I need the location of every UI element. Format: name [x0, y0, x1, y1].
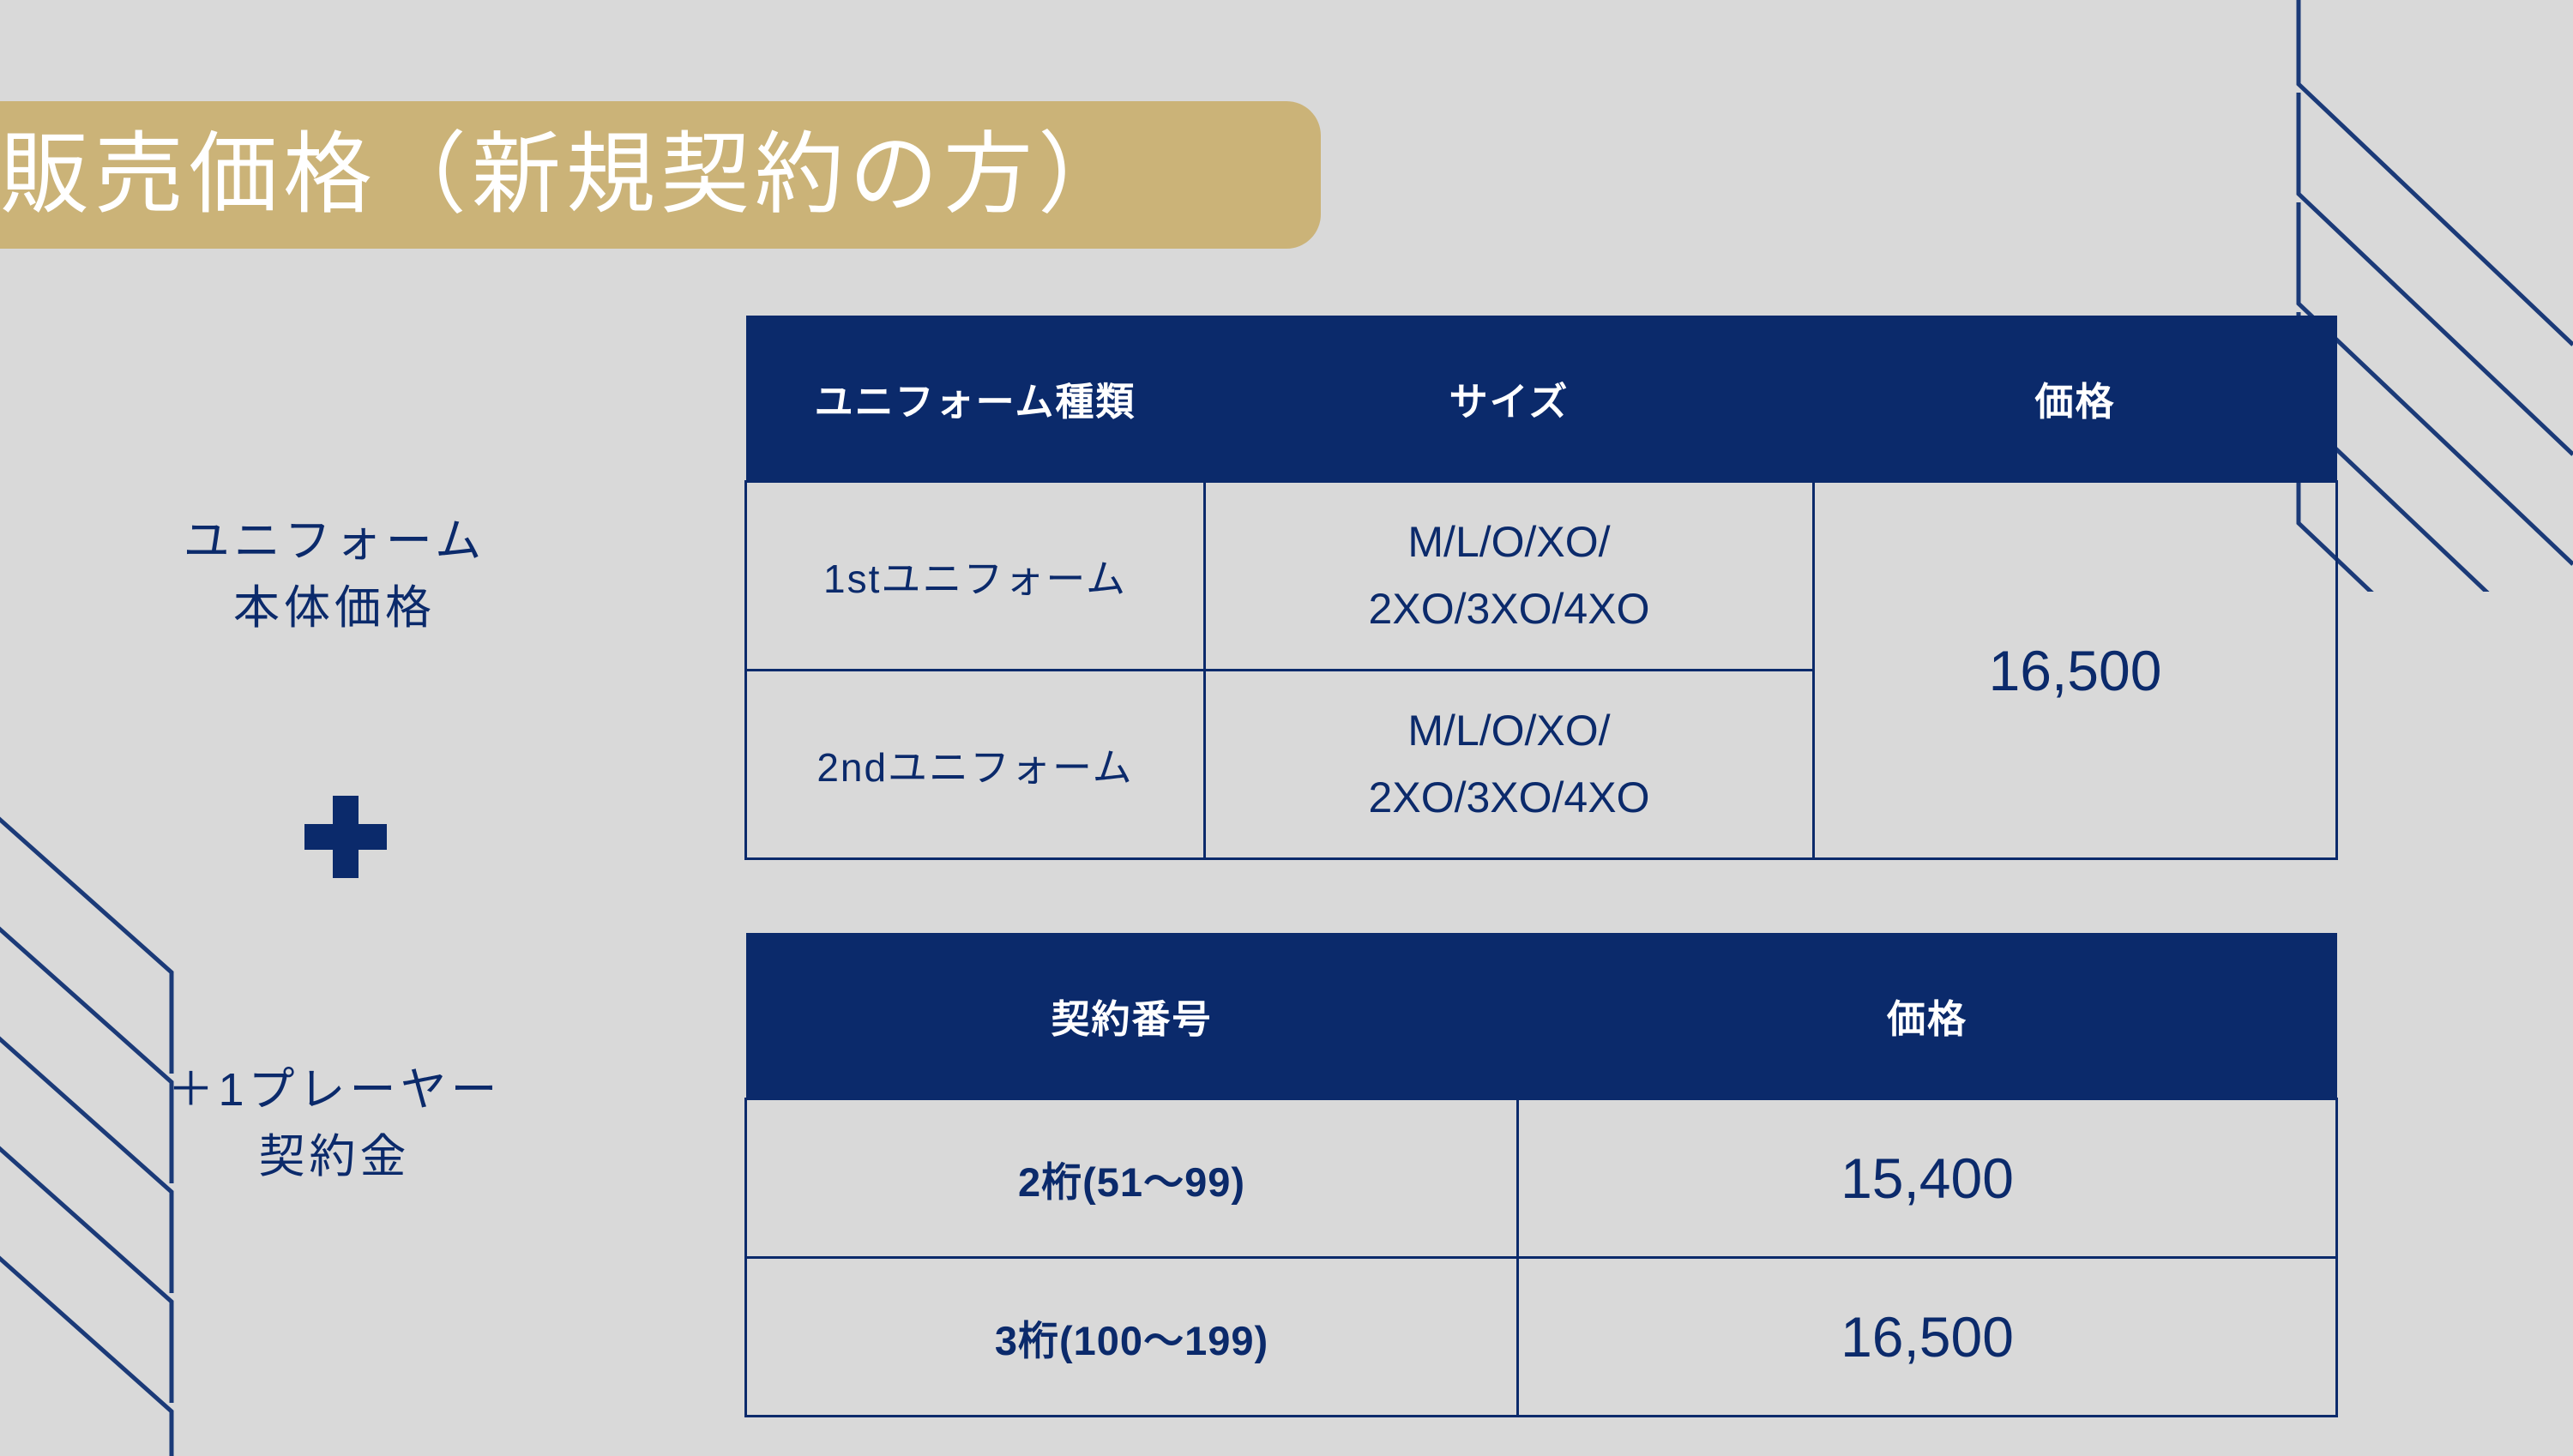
contract-price-table: 契約番号 価格 2桁(51〜99) 15,400 3桁(100〜199) 16,…	[744, 933, 2338, 1417]
header-uniform-price: 価格	[1814, 316, 2337, 482]
page-title-banner: 販売価格（新規契約の方）	[0, 101, 1321, 249]
plus-icon-horizontal-bar	[304, 824, 387, 850]
label-uniform-line2: 本体価格	[111, 575, 557, 641]
cell-size-1st: M/L/O/XO/ 2XO/3XO/4XO	[1205, 482, 1814, 671]
cell-kind-2nd: 2ndユニフォーム	[746, 671, 1205, 859]
cell-size-2nd-line2: 2XO/3XO/4XO	[1369, 773, 1650, 821]
table-header-row: 契約番号 価格	[746, 933, 2337, 1099]
page-title: 販売価格（新規契約の方）	[0, 130, 1132, 220]
label-player-line1: ＋1プレーヤー	[111, 1056, 557, 1123]
label-player-line2: 契約金	[111, 1123, 557, 1190]
cell-size-1st-line2: 2XO/3XO/4XO	[1369, 585, 1650, 633]
header-uniform-size: サイズ	[1205, 316, 1814, 482]
table-row: 2桁(51〜99) 15,400	[746, 1099, 2337, 1258]
label-player-contract-fee: ＋1プレーヤー 契約金	[111, 1056, 557, 1191]
cell-size-2nd: M/L/O/XO/ 2XO/3XO/4XO	[1205, 671, 1814, 859]
label-uniform-line1: ユニフォーム	[111, 508, 557, 575]
header-contract-number: 契約番号	[746, 933, 1518, 1099]
plus-icon	[304, 796, 387, 878]
cell-size-2nd-line1: M/L/O/XO/	[1407, 707, 1610, 755]
header-contract-price: 価格	[1518, 933, 2337, 1099]
table-row: 1stユニフォーム M/L/O/XO/ 2XO/3XO/4XO 16,500	[746, 482, 2337, 671]
cell-size-1st-line1: M/L/O/XO/	[1407, 518, 1610, 566]
label-uniform-base-price: ユニフォーム 本体価格	[111, 508, 557, 642]
cell-contract-number-3digit: 3桁(100〜199)	[746, 1258, 1518, 1417]
cell-uniform-price: 16,500	[1814, 482, 2337, 859]
table-header-row: ユニフォーム種類 サイズ 価格	[746, 316, 2337, 482]
header-uniform-kind: ユニフォーム種類	[746, 316, 1205, 482]
cell-kind-1st: 1stユニフォーム	[746, 482, 1205, 671]
table-row: 3桁(100〜199) 16,500	[746, 1258, 2337, 1417]
cell-contract-price-2digit: 15,400	[1518, 1099, 2337, 1258]
cell-contract-number-2digit: 2桁(51〜99)	[746, 1099, 1518, 1258]
uniform-price-table: ユニフォーム種類 サイズ 価格 1stユニフォーム M/L/O/XO/ 2XO/…	[744, 316, 2338, 860]
cell-contract-price-3digit: 16,500	[1518, 1258, 2337, 1417]
